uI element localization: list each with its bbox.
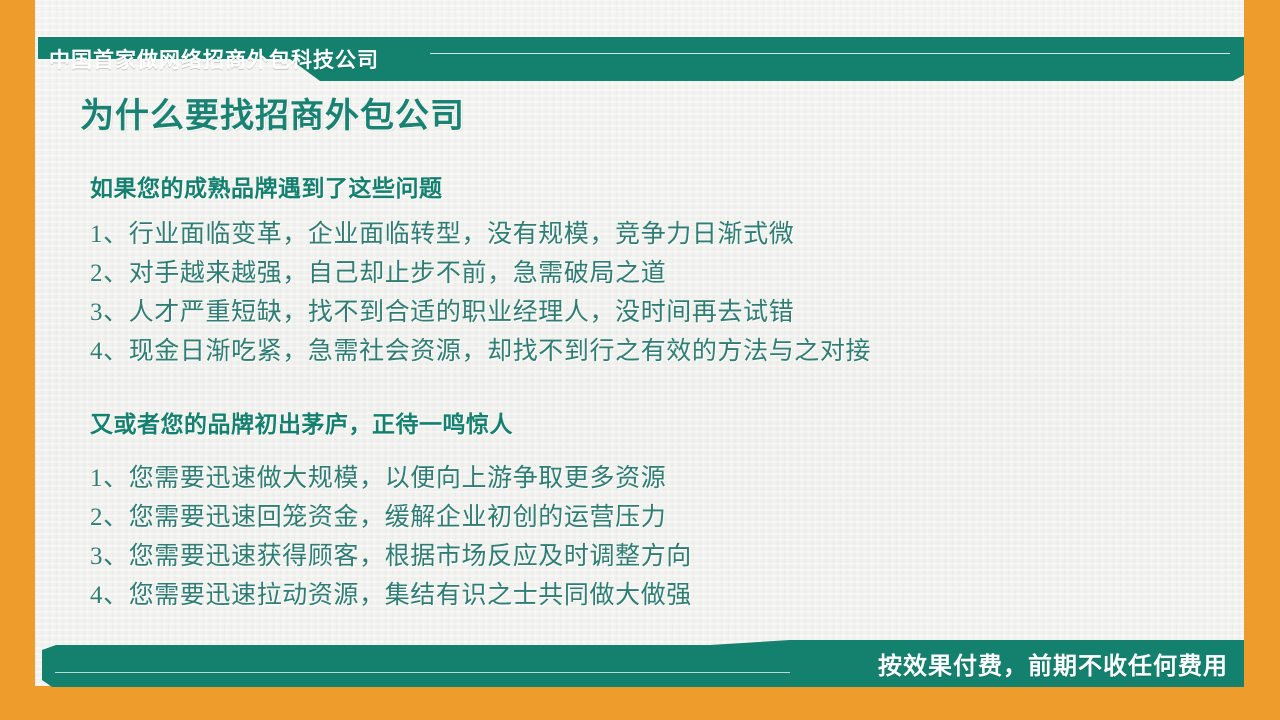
section-new-brand: 又或者您的品牌初出茅庐，正待一鸣惊人 1、您需要迅速做大规模，以便向上游争取更多… [90, 405, 1244, 615]
slide-canvas: 中国首家做网络招商外包科技公司 为什么要找招商外包公司 如果您的成熟品牌遇到了这… [0, 0, 1280, 720]
list-item: 2、您需要迅速回笼资金，缓解企业初创的运营压力 [90, 498, 1244, 537]
list-item: 3、您需要迅速获得顾客，根据市场反应及时调整方向 [90, 537, 1244, 576]
list-item: 4、您需要迅速拉动资源，集结有识之士共同做大做强 [90, 576, 1244, 615]
page-title: 为什么要找招商外包公司 [80, 95, 1244, 138]
list-item: 1、您需要迅速做大规模，以便向上游争取更多资源 [90, 459, 1244, 498]
list-item: 3、人才严重短缺，找不到合适的职业经理人，没时间再去试错 [90, 293, 1244, 332]
section-heading-1: 如果您的成熟品牌遇到了这些问题 [90, 169, 1244, 203]
bullet-list-2: 1、您需要迅速做大规模，以便向上游争取更多资源 2、您需要迅速回笼资金，缓解企业… [90, 459, 1244, 615]
list-item: 2、对手越来越强，自己却止步不前，急需破局之道 [90, 254, 1244, 293]
list-item: 1、行业面临变革，企业面临转型，没有规模，竞争力日渐式微 [90, 215, 1244, 254]
bullet-list-1: 1、行业面临变革，企业面临转型，没有规模，竞争力日渐式微 2、对手越来越强，自己… [90, 215, 1244, 371]
section-heading-2: 又或者您的品牌初出茅庐，正待一鸣惊人 [90, 405, 1244, 439]
footer-tagline: 按效果付费，前期不收任何费用 [878, 646, 1228, 681]
footer-divider-line [55, 672, 790, 673]
section-mature-brand: 如果您的成熟品牌遇到了这些问题 1、行业面临变革，企业面临转型，没有规模，竞争力… [90, 169, 1244, 371]
header-tagline: 中国首家做网络招商外包科技公司 [38, 37, 1244, 81]
list-item: 4、现金日渐吃紧，急需社会资源，却找不到行之有效的方法与之对接 [90, 332, 1244, 371]
slide-content: 为什么要找招商外包公司 如果您的成熟品牌遇到了这些问题 1、行业面临变革，企业面… [35, 95, 1244, 615]
